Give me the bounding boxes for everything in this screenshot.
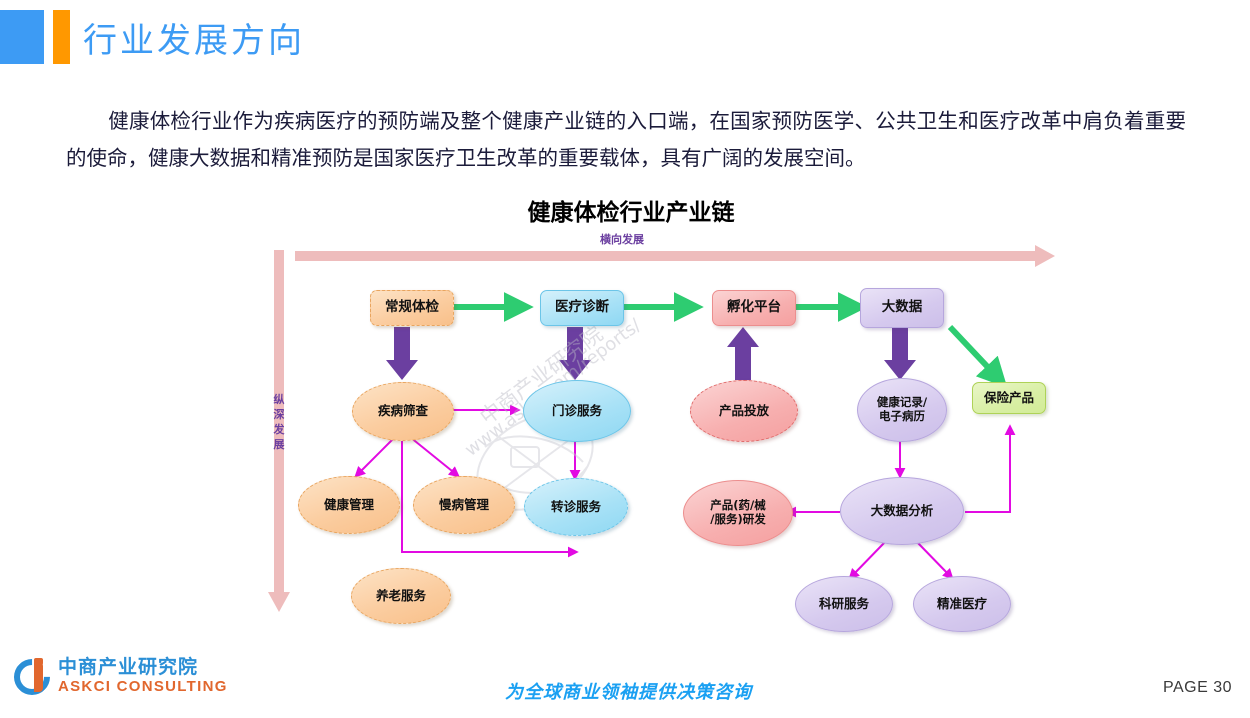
node-elderly-service[interactable]: 养老服务: [351, 568, 451, 624]
node-disease-screening[interactable]: 疾病筛查: [352, 382, 454, 441]
thick-purple-arrows: [386, 327, 916, 380]
footer-slogan: 为全球商业领袖提供决策咨询: [505, 678, 752, 704]
node-research-service[interactable]: 科研服务: [795, 576, 893, 632]
axis-label-horizontal: 横向发展: [600, 231, 644, 247]
logo-c-arc: [7, 651, 58, 702]
page-number: PAGE 30: [1163, 679, 1232, 697]
logo-text-en: ASKCI CONSULTING: [58, 678, 228, 696]
node-medical-diagnosis[interactable]: 医疗诊断: [540, 290, 624, 326]
slide: 行业发展方向 健康体检行业作为疾病医疗的预防端及整个健康产业链的入口端，在国家预…: [0, 0, 1250, 718]
node-chronic-management[interactable]: 慢病管理: [413, 476, 515, 534]
elbow-analysis-to-insurance: [965, 428, 1010, 512]
node-product-launch[interactable]: 产品投放: [690, 380, 798, 442]
intro-paragraph: 健康体检行业作为疾病医疗的预防端及整个健康产业链的入口端，在国家预防医学、公共卫…: [66, 103, 1186, 177]
node-product-rd[interactable]: 产品(药/械 /服务)研发: [683, 480, 793, 546]
page-title: 行业发展方向: [83, 13, 305, 62]
node-incubation-platform[interactable]: 孵化平台: [712, 290, 796, 326]
node-precision-medicine[interactable]: 精准医疗: [913, 576, 1011, 632]
logo-i-bar: [34, 662, 43, 692]
horizontal-axis-arrow: [295, 245, 1055, 267]
node-insurance-product[interactable]: 保险产品: [972, 382, 1046, 414]
header-accent-blue: [0, 10, 44, 64]
industry-chain-diagram: 横向发展 纵深发展 中商产业研究院 www.askci.com/reports/…: [265, 232, 1065, 630]
node-outpatient-service[interactable]: 门诊服务: [523, 380, 631, 442]
company-logo: 中商产业研究院 ASKCI CONSULTING: [14, 657, 228, 696]
node-health-management[interactable]: 健康管理: [298, 476, 400, 534]
logo-i-dot: [34, 658, 43, 665]
node-health-record[interactable]: 健康记录/ 电子病历: [857, 378, 947, 442]
node-big-data[interactable]: 大数据: [860, 288, 944, 328]
node-big-data-analysis[interactable]: 大数据分析: [840, 477, 964, 545]
logo-text-cn: 中商产业研究院: [58, 657, 228, 678]
axis-label-vertical: 纵深发展: [272, 392, 286, 452]
node-referral-service[interactable]: 转诊服务: [524, 478, 628, 536]
askci-logo-icon: [14, 659, 50, 695]
paragraph-text: 健康体检行业作为疾病医疗的预防端及整个健康产业链的入口端，在国家预防医学、公共卫…: [66, 109, 1186, 170]
chart-title: 健康体检行业产业链: [0, 193, 1250, 227]
node-routine-checkup[interactable]: 常规体检: [370, 290, 454, 326]
header-accent-orange: [53, 10, 70, 64]
